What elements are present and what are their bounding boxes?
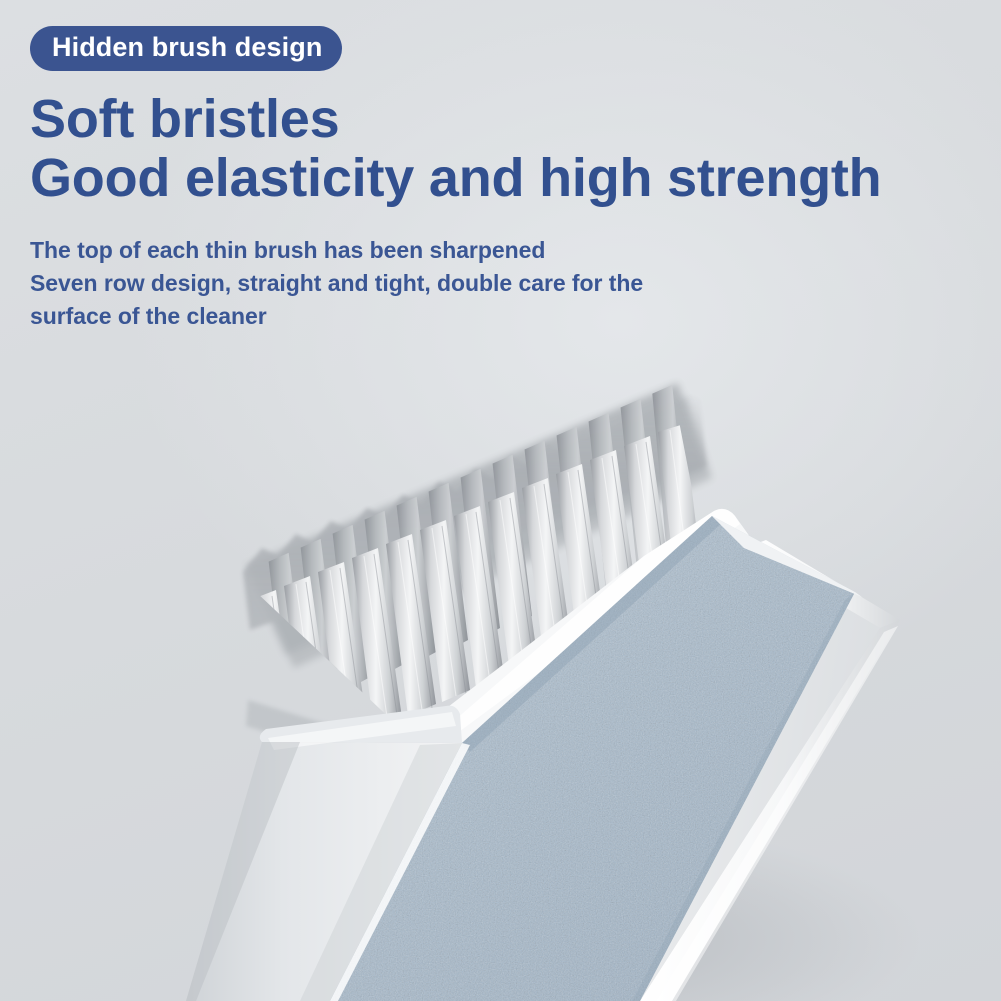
description-line-3: surface of the cleaner [30, 300, 985, 333]
description-line-2: Seven row design, straight and tight, do… [30, 267, 985, 300]
section-badge: Hidden brush design [30, 26, 342, 71]
description-line-1: The top of each thin brush has been shar… [30, 234, 985, 267]
headline-line-2: Good elasticity and high strength [30, 150, 985, 207]
description-text: The top of each thin brush has been shar… [30, 234, 985, 332]
page-title: Soft bristles Good elasticity and high s… [30, 91, 985, 207]
scene-background: Hidden brush design Soft bristles Good e… [0, 0, 1001, 1001]
headline-line-1: Soft bristles [30, 91, 985, 148]
marketing-copy: Hidden brush design Soft bristles Good e… [30, 26, 985, 332]
